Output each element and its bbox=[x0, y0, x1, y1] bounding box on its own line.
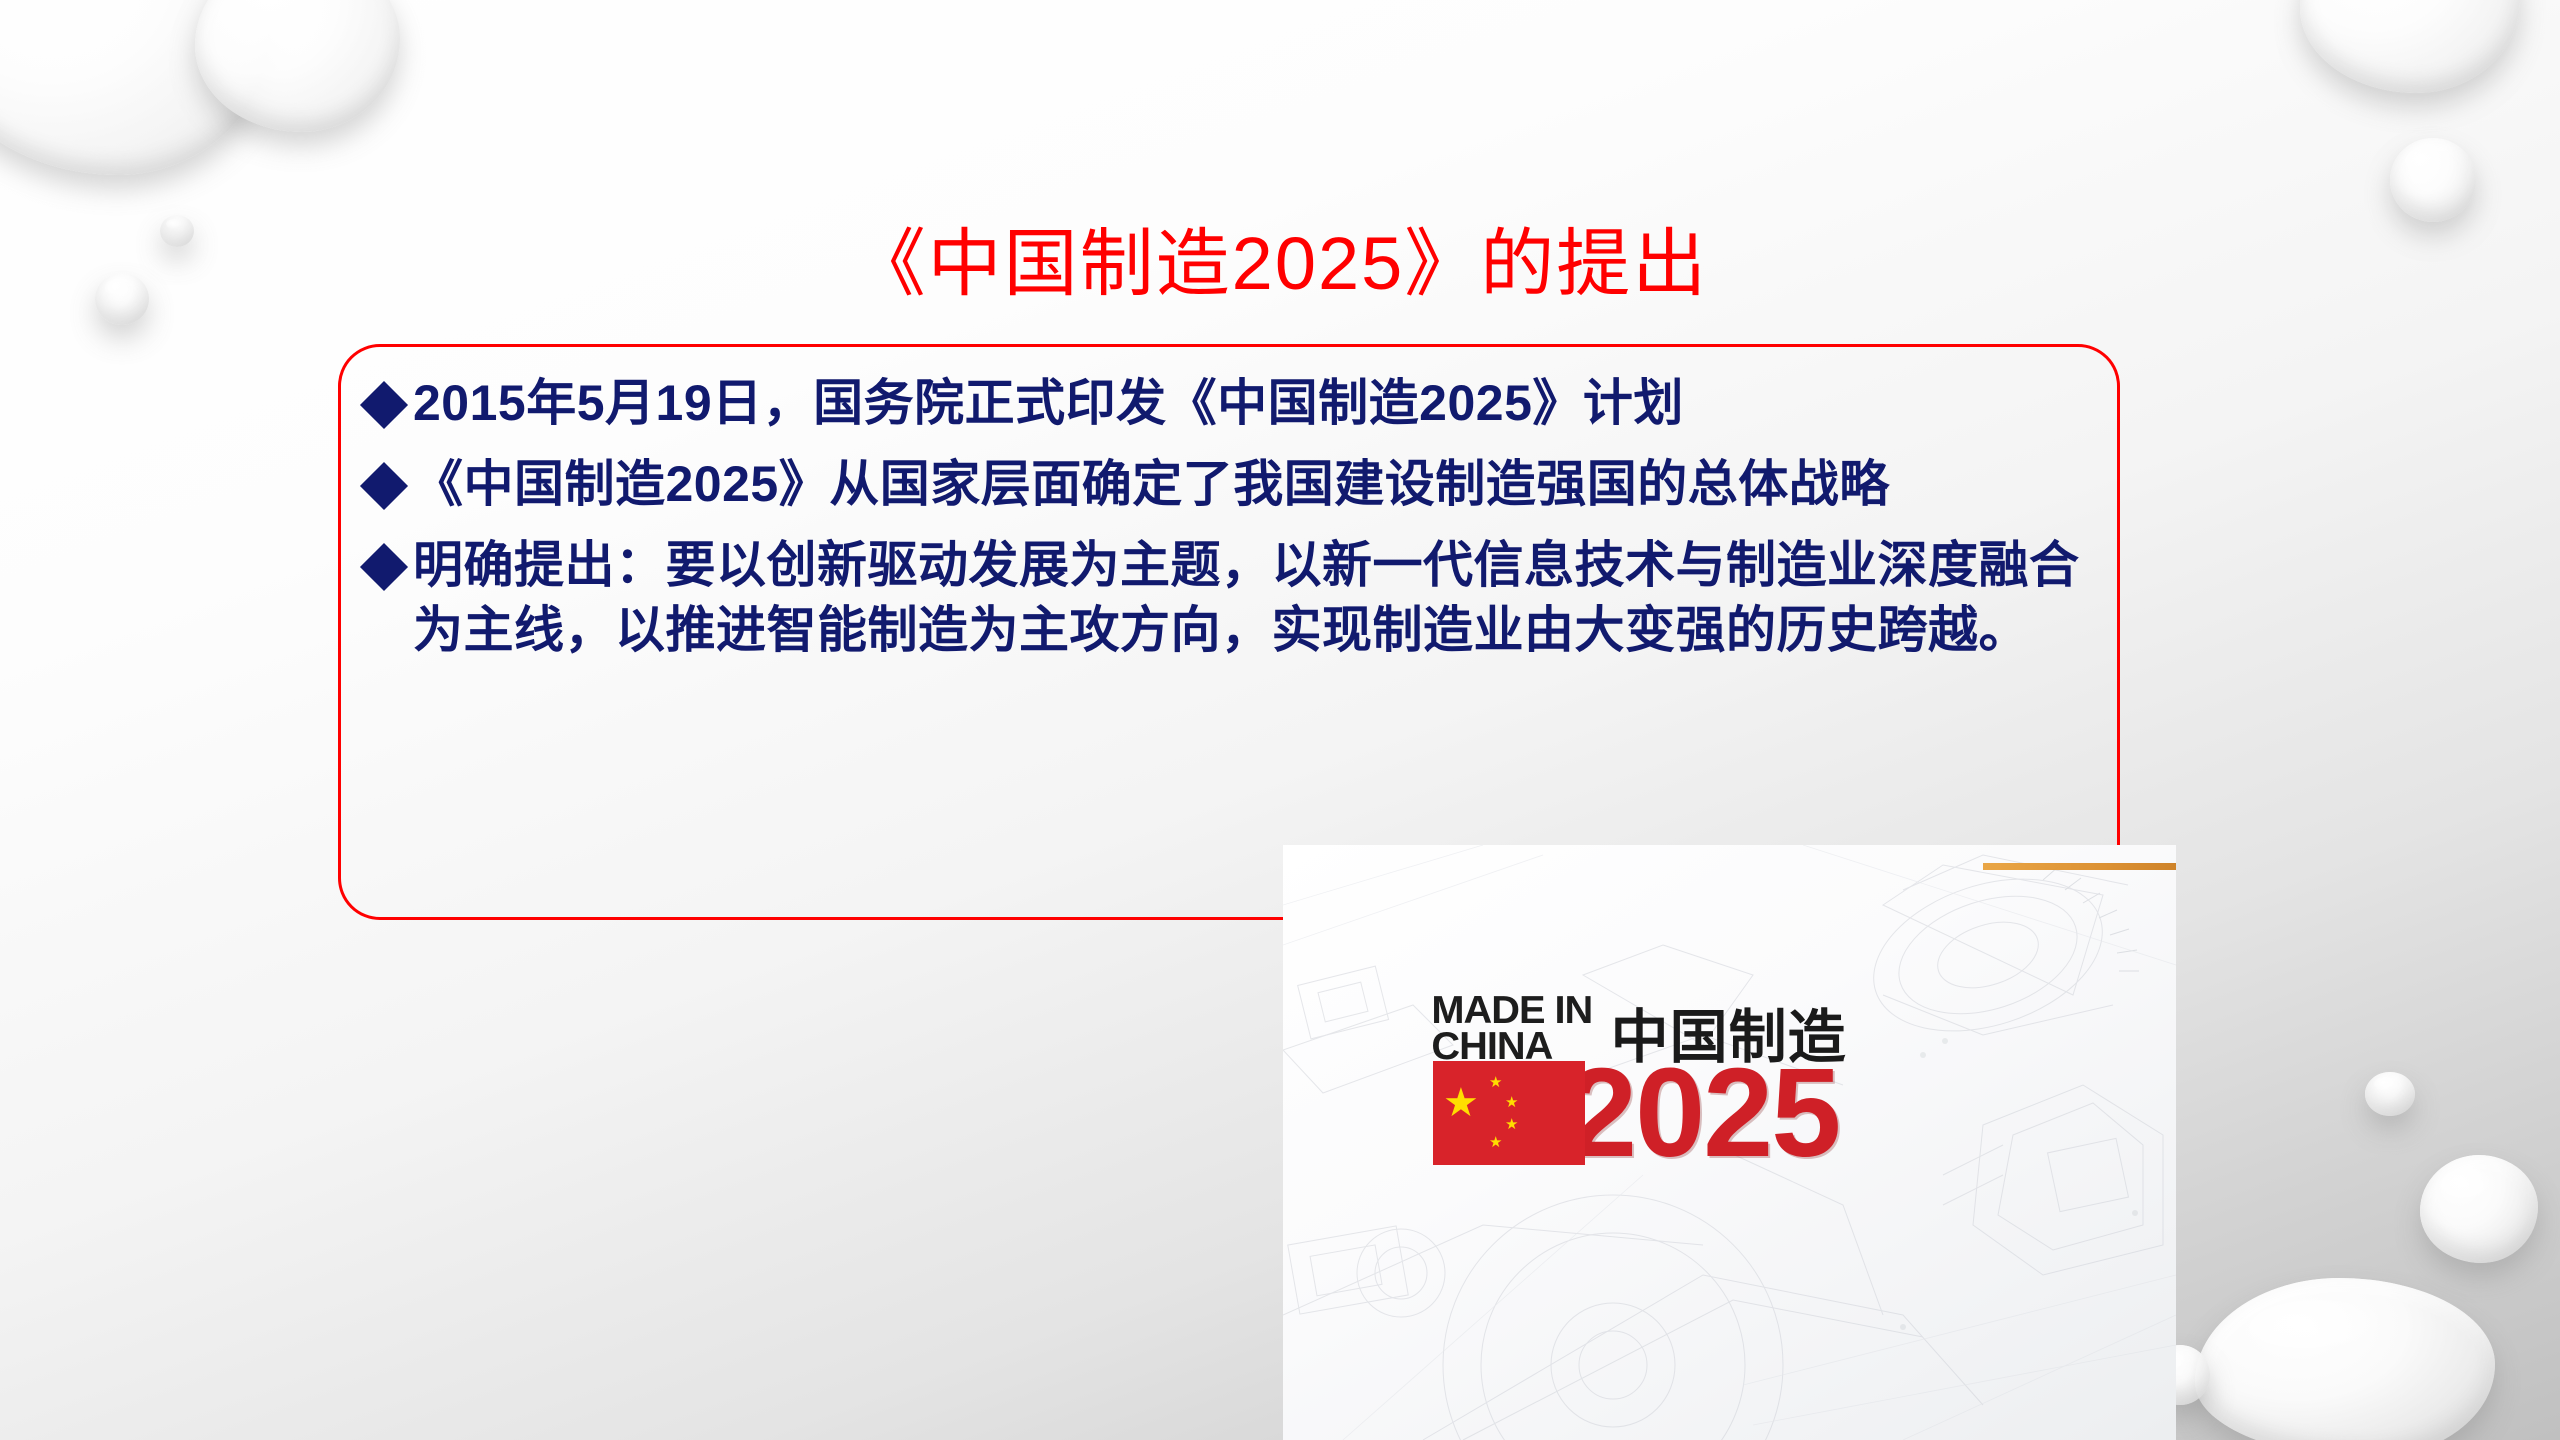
orange-rule-line bbox=[1983, 863, 2176, 870]
flag-star-small-3: ★ bbox=[1505, 1117, 1518, 1132]
flag-star-small-1: ★ bbox=[1489, 1075, 1502, 1090]
bullet-item-3-text: 明确提出：要以创新驱动发展为主题，以新一代信息技术与制造业深度融合为主线，以推进… bbox=[413, 533, 2091, 663]
droplet-top-left-large bbox=[0, 0, 270, 175]
bullet-item-2-text: 《中国制造2025》从国家层面确定了我国建设制造强国的总体战略 bbox=[413, 452, 2091, 517]
presentation-slide: 《中国制造2025》的提出 2015年5月19日，国务院正式印发《中国制造202… bbox=[0, 0, 2560, 1440]
flag-star-small-2: ★ bbox=[1505, 1095, 1518, 1110]
bullet-item-3: 明确提出：要以创新驱动发展为主题，以新一代信息技术与制造业深度融合为主线，以推进… bbox=[367, 533, 2091, 663]
made-in-china-2025-image: MADE IN CHINA 中国制造 ★ ★ ★ ★ ★ 2025 bbox=[1283, 845, 2176, 1440]
logo-bottom-row: ★ ★ ★ ★ ★ 2025 bbox=[1433, 1061, 1993, 1165]
flag-star-small-4: ★ bbox=[1489, 1135, 1502, 1150]
droplet-top-left-medium bbox=[195, 0, 400, 132]
bullet-item-2: 《中国制造2025》从国家层面确定了我国建设制造强国的总体战略 bbox=[367, 452, 2091, 517]
logo-year-text: 2025 bbox=[1567, 1061, 1839, 1164]
droplet-top-right-large bbox=[2300, 0, 2520, 93]
bullet-list-box: 2015年5月19日，国务院正式印发《中国制造2025》计划 《中国制造2025… bbox=[338, 344, 2120, 920]
diamond-bullet-icon bbox=[360, 381, 408, 429]
flag-star-large: ★ bbox=[1443, 1083, 1479, 1123]
slide-title: 《中国制造2025》的提出 bbox=[0, 225, 2560, 303]
droplet-bottom-right-small bbox=[2365, 1072, 2415, 1116]
made-in-china-2025-logo: MADE IN CHINA 中国制造 ★ ★ ★ ★ ★ 2025 bbox=[1433, 993, 1993, 1165]
logo-made-in-text: MADE IN bbox=[1431, 993, 1592, 1029]
diamond-bullet-icon bbox=[360, 462, 408, 510]
diamond-bullet-icon bbox=[360, 543, 408, 591]
bullet-item-1: 2015年5月19日，国务院正式印发《中国制造2025》计划 bbox=[367, 371, 2091, 436]
china-flag-icon: ★ ★ ★ ★ ★ bbox=[1433, 1061, 1585, 1165]
droplet-bottom-right-large bbox=[2195, 1278, 2495, 1440]
bullet-item-1-text: 2015年5月19日，国务院正式印发《中国制造2025》计划 bbox=[413, 371, 2091, 436]
droplet-bottom-right-medium bbox=[2420, 1155, 2538, 1263]
droplet-top-right-small bbox=[2390, 138, 2476, 222]
